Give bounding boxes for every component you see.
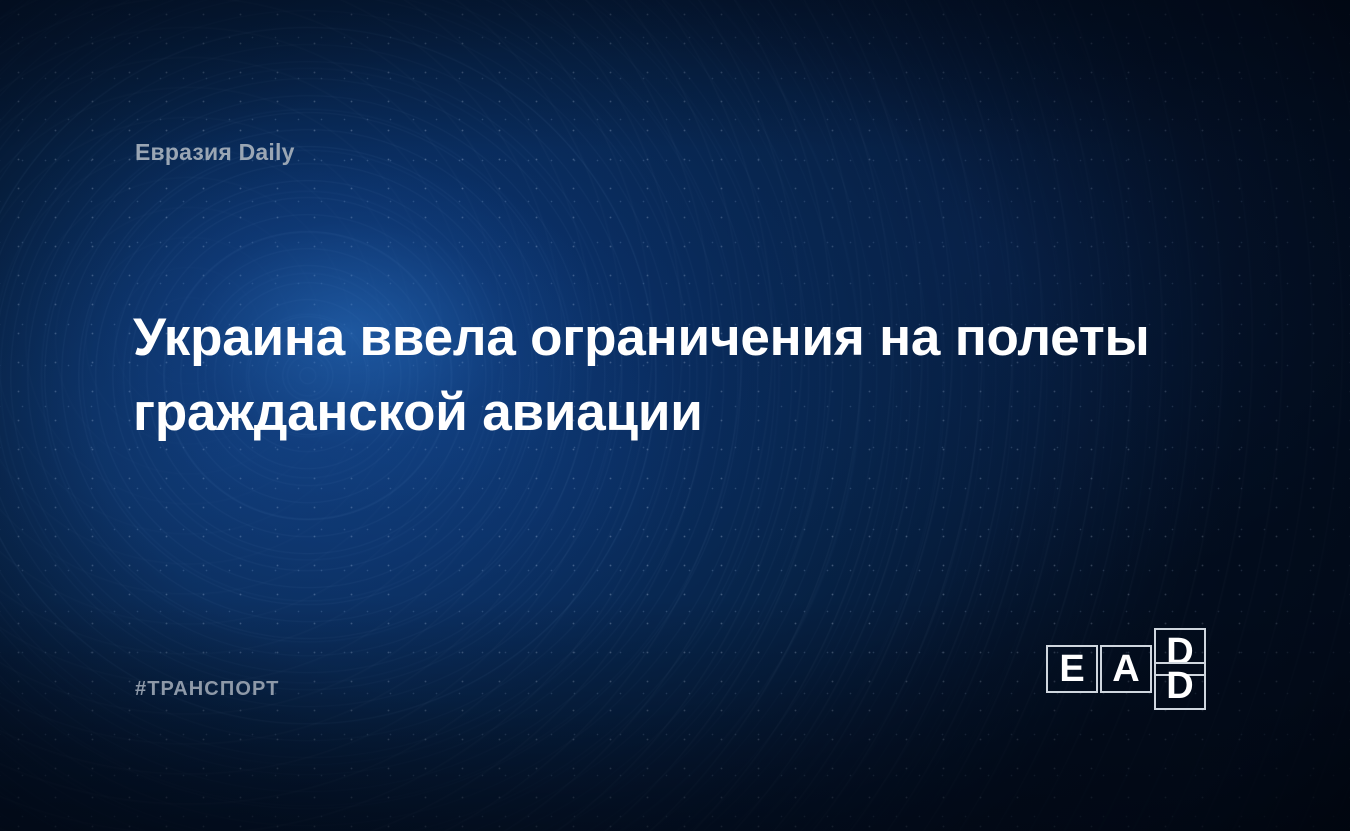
card-content: Евразия Daily Украина ввела ограничения … (0, 0, 1350, 831)
logo-letter-d-bottom: D (1154, 662, 1206, 710)
news-card: Евразия Daily Украина ввела ограничения … (0, 0, 1350, 831)
topic-tag: #ТРАНСПОРТ (135, 678, 279, 701)
page-title: Украина ввела ограничения на полеты граж… (133, 300, 1193, 451)
eadaily-logo: E A D D (1046, 628, 1220, 710)
logo-letter-a: A (1100, 645, 1152, 693)
brand-label: Евразия Daily (135, 139, 295, 166)
logo-letter-e: E (1046, 645, 1098, 693)
